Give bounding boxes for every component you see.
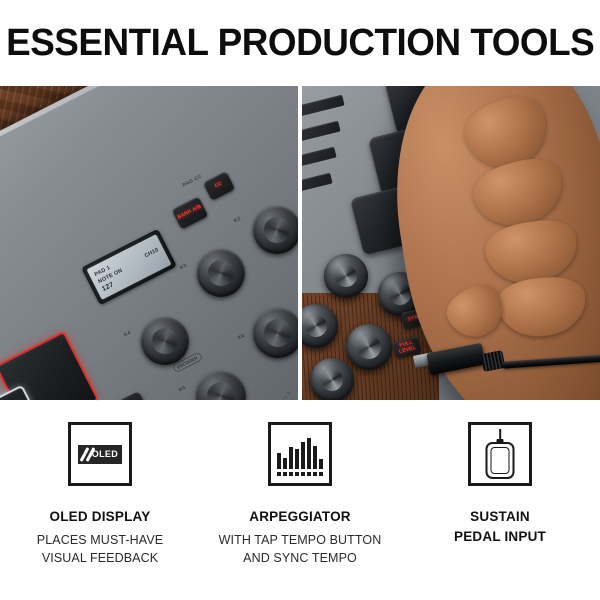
- arpeggiator-step-block-6: [307, 472, 311, 477]
- oled-icon-art: OLED: [78, 445, 122, 464]
- arpeggiator-bar-6: [307, 438, 311, 469]
- arpeggiator-equalizer-icon: [268, 422, 332, 486]
- feature-subtitle-oled-line-2: VISUAL FEEDBACK: [37, 549, 163, 568]
- arpeggiator-step-block-1: [277, 472, 281, 477]
- arpeggiator-bar-8: [319, 459, 323, 469]
- feature-subtitle-oled-line-1: PLACES MUST-HAVE: [37, 531, 163, 550]
- arpeggiator-step-block-8: [319, 472, 323, 477]
- knob-right-4[interactable]: [346, 324, 392, 370]
- full-level-button-label: FULL LEVEL: [393, 339, 421, 355]
- knob-right-5[interactable]: [310, 358, 354, 400]
- oled-display-icon: OLED: [68, 422, 132, 486]
- features-row: OLED OLED DISPLAY PLACES MUST-HAVE VISUA…: [0, 400, 600, 600]
- feature-title-oled: OLED DISPLAY: [50, 507, 151, 527]
- arpeggiator-bar-4: [295, 449, 299, 469]
- feature-subtitle-arpeggiator-line-1: WITH TAP TEMPO BUTTON: [219, 531, 382, 550]
- pedal-body: [486, 442, 515, 479]
- arpeggiator-step-block-4: [295, 472, 299, 477]
- arpeggiator-step-block-3: [289, 472, 293, 477]
- arpeggiator-bar-5: [301, 442, 305, 469]
- page-title: ESSENTIAL PRODUCTION TOOLS: [6, 24, 594, 62]
- knob-k3[interactable]: [197, 249, 245, 297]
- feature-oled-display: OLED OLED DISPLAY PLACES MUST-HAVE VISUA…: [0, 422, 200, 568]
- feature-arpeggiator: ARPEGGIATOR WITH TAP TEMPO BUTTON AND SY…: [200, 422, 400, 568]
- photo-right-cable-hand: TAP TEMPO ARP SYNC FULL LEVEL MIDI PRO: [302, 86, 600, 400]
- knob-right-1[interactable]: [324, 254, 368, 298]
- feature-title-sustain-line-2: PEDAL INPUT: [454, 527, 546, 547]
- knob-k2[interactable]: [253, 206, 298, 254]
- arpeggiator-step-block-7: [313, 472, 317, 477]
- feature-subtitle-arpeggiator: WITH TAP TEMPO BUTTON AND SYNC TEMPO: [219, 531, 382, 569]
- photo-left-controller-oled: PAD 1 NOTE ON 127 CH10 BANK A/B CC PAD C…: [0, 86, 298, 400]
- feature-subtitle-arpeggiator-line-2: AND SYNC TEMPO: [219, 549, 382, 568]
- arpeggiator-bar-1: [277, 453, 281, 469]
- oled-badge: CH10: [144, 247, 160, 259]
- knob-k6[interactable]: [253, 308, 298, 358]
- arpeggiator-step-blocks: [277, 472, 323, 477]
- arpeggiator-bars: [277, 436, 323, 469]
- arpeggiator-icon-art: [277, 432, 323, 476]
- arpeggiator-bar-3: [289, 447, 293, 469]
- sustain-pedal-icon: [468, 422, 532, 486]
- feature-title-sustain-line-1: SUSTAIN: [454, 507, 546, 527]
- infographic-page: ESSENTIAL PRODUCTION TOOLS PAD 1 NOTE ON…: [0, 0, 600, 600]
- header: ESSENTIAL PRODUCTION TOOLS: [0, 0, 600, 86]
- arpeggiator-step-block-2: [283, 472, 287, 477]
- feature-subtitle-oled: PLACES MUST-HAVE VISUAL FEEDBACK: [37, 531, 163, 569]
- arpeggiator-step-block-5: [301, 472, 305, 477]
- feature-title-sustain: SUSTAIN PEDAL INPUT: [454, 507, 546, 546]
- sustain-pedal-icon-art: [477, 429, 523, 479]
- feature-title-arpeggiator: ARPEGGIATOR: [249, 507, 350, 527]
- knob-k4[interactable]: [141, 317, 189, 365]
- arpeggiator-bar-2: [283, 458, 287, 469]
- cc-button-label: CC: [214, 182, 223, 190]
- pedal-body-inner: [491, 447, 510, 474]
- feature-sustain-pedal: SUSTAIN PEDAL INPUT: [400, 422, 600, 546]
- oled-icon-text: OLED: [92, 449, 118, 459]
- bank-ab-button-label: BANK A/B: [177, 205, 202, 221]
- photo-band: PAD 1 NOTE ON 127 CH10 BANK A/B CC PAD C…: [0, 86, 600, 400]
- arpeggiator-bar-7: [313, 446, 317, 469]
